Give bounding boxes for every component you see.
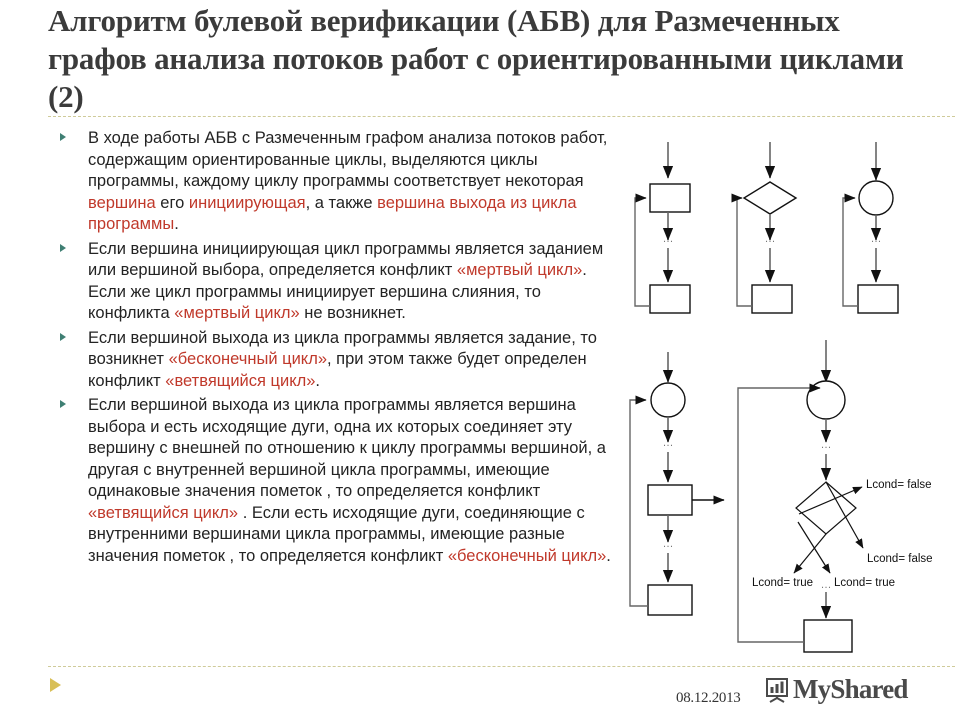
bullet-list: В ходе работы АБВ с Размеченным графом а… (52, 128, 612, 570)
plain-text: , а также (306, 194, 378, 212)
plain-text: Если вершиной выхода из цикла программы … (88, 396, 606, 500)
ellipsis-label: … (663, 437, 674, 449)
plain-text: . (315, 372, 320, 390)
footer-divider (48, 666, 955, 667)
node-task-3 (752, 285, 792, 313)
node-task-2 (650, 285, 690, 313)
bullet-text: В ходе работы АБВ с Размеченным графом а… (88, 129, 607, 233)
list-item: В ходе работы АБВ с Размеченным графом а… (52, 128, 612, 236)
bullet-triangle-icon (60, 133, 66, 141)
chart-presentation-icon (764, 677, 790, 703)
bullet-text: Если вершина инициирующая цикл программы… (88, 240, 603, 323)
plain-text: В ходе работы АБВ с Размеченным графом а… (88, 129, 607, 190)
watermark: MyShared (764, 674, 908, 705)
title-divider (48, 116, 955, 117)
ellipsis-label: … (663, 233, 674, 245)
watermark-text: MyShared (793, 674, 908, 705)
node-choice-1 (744, 182, 796, 214)
bullet-text: Если вершиной выхода из цикла программы … (88, 396, 611, 565)
ellipsis-label: … (765, 233, 776, 245)
page-title: Алгоритм булевой верификации (АБВ) для Р… (48, 2, 938, 116)
fig-task-loop: … (635, 142, 690, 313)
fig-choice-loop: … (737, 142, 796, 313)
label-lcond-false-top: Lcond= false (866, 479, 932, 491)
node-merge-1 (859, 181, 893, 215)
ellipsis-label: … (821, 439, 832, 451)
ellipsis-label: … (821, 579, 832, 591)
flowchart-svg: … … … … (612, 130, 960, 655)
highlighted-term: «ветвящийся цикл» (165, 372, 315, 390)
node-merge-2 (651, 383, 685, 417)
label-lcond-true-left: Lcond= true (752, 577, 813, 589)
highlighted-term: «мертвый цикл» (457, 261, 582, 279)
bullet-triangle-icon (60, 400, 66, 408)
bullet-triangle-icon (60, 244, 66, 252)
fig-merge-exit-loop: … … (630, 352, 724, 615)
node-task-6 (804, 620, 852, 652)
edge-true-left (794, 534, 826, 573)
plain-text: . (174, 215, 179, 233)
plain-text: его (156, 194, 189, 212)
node-task-4 (858, 285, 898, 313)
plain-text: . (606, 547, 611, 565)
node-task-5 (648, 585, 692, 615)
bullet-triangle-icon (60, 333, 66, 341)
highlighted-term: «бесконечный цикл» (448, 547, 606, 565)
highlighted-term: вершина (88, 194, 156, 212)
highlighted-term: «мертвый цикл» (174, 304, 299, 322)
ellipsis-label: … (871, 233, 882, 245)
fig-merge-choice-loop: … Lcond= false Lcond= false Lcond= true … (738, 340, 933, 652)
list-item: Если вершина инициирующая цикл программы… (52, 239, 612, 325)
list-item: Если вершиной выхода из цикла программы … (52, 395, 612, 567)
bullet-text: Если вершиной выхода из цикла программы … (88, 329, 597, 390)
label-lcond-false-right: Lcond= false (867, 553, 933, 565)
highlighted-term: «ветвящийся цикл» (88, 504, 238, 522)
ellipsis-label: … (663, 538, 674, 550)
highlighted-term: инициирующая (189, 194, 306, 212)
node-merge-3 (807, 381, 845, 419)
node-choice-exit (648, 485, 692, 515)
footer-triangle-icon (50, 678, 61, 692)
list-item: Если вершиной выхода из цикла программы … (52, 328, 612, 393)
node-choice-2 (796, 482, 856, 534)
slide-date: 08.12.2013 (676, 690, 741, 707)
flowchart-diagrams: … … … … (612, 130, 960, 655)
highlighted-term: «бесконечный цикл» (169, 350, 327, 368)
label-lcond-true-right: Lcond= true (834, 577, 895, 589)
node-task-1 (650, 184, 690, 212)
fig-merge-loop: … (843, 142, 898, 313)
plain-text: не возникнет. (300, 304, 406, 322)
